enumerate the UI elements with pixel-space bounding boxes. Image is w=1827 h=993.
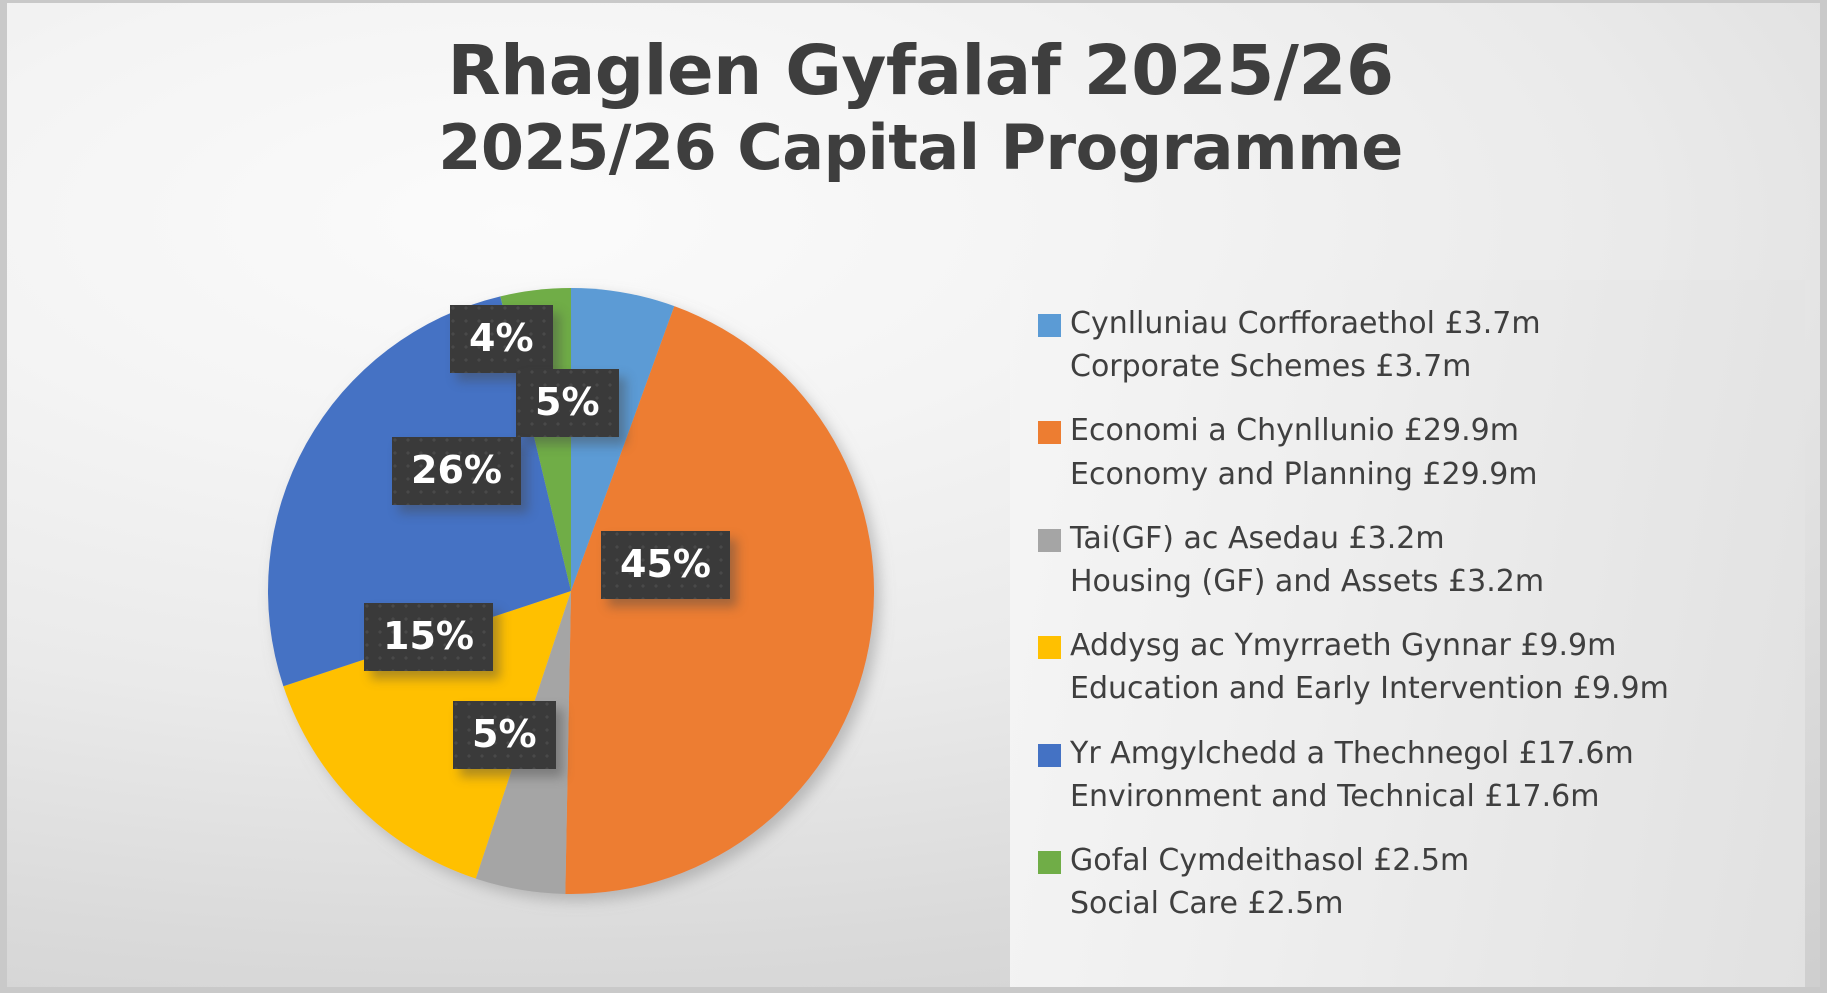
legend-label-english: Environment and Technical £17.6m [1070,775,1634,818]
legend-label-english: Housing (GF) and Assets £3.2m [1070,560,1544,603]
legend-item-label: Addysg ac Ymyrraeth Gynnar £9.9mEducatio… [1070,624,1669,710]
chart-legend: Cynlluniau Corfforaethol £3.7mCorporate … [1010,280,1805,989]
legend-swatch-environment-technical [1038,744,1061,767]
slide-canvas: Rhaglen Gyfalaf 2025/26 2025/26 Capital … [0,0,1827,993]
legend-item[interactable]: Addysg ac Ymyrraeth Gynnar £9.9mEducatio… [1038,624,1793,710]
pie-label-corporate-schemes: 5% [516,369,619,437]
legend-item-label: Yr Amgylchedd a Thechnegol £17.6mEnviron… [1070,732,1634,818]
legend-label-welsh: Addysg ac Ymyrraeth Gynnar £9.9m [1070,624,1669,667]
legend-item[interactable]: Gofal Cymdeithasol £2.5mSocial Care £2.5… [1038,839,1793,925]
legend-label-english: Economy and Planning £29.9m [1070,453,1538,496]
pie-label-environment-technical: 26% [392,437,521,505]
legend-item-label: Gofal Cymdeithasol £2.5mSocial Care £2.5… [1070,839,1469,925]
pie-label-housing-assets: 5% [453,701,556,769]
pie-label-education-early-intervention: 15% [364,603,493,671]
pie-label-economy-planning: 45% [601,531,730,599]
title-english: 2025/26 Capital Programme [7,115,1827,181]
legend-item[interactable]: Economi a Chynllunio £29.9mEconomy and P… [1038,409,1793,495]
legend-label-welsh: Tai(GF) ac Asedau £3.2m [1070,517,1544,560]
legend-label-english: Education and Early Intervention £9.9m [1070,667,1669,710]
legend-label-english: Social Care £2.5m [1070,882,1469,925]
legend-label-welsh: Gofal Cymdeithasol £2.5m [1070,839,1469,882]
legend-item-label: Cynlluniau Corfforaethol £3.7mCorporate … [1070,302,1541,388]
legend-swatch-economy-planning [1038,421,1061,444]
legend-label-english: Corporate Schemes £3.7m [1070,345,1541,388]
title-welsh: Rhaglen Gyfalaf 2025/26 [7,35,1827,109]
legend-label-welsh: Economi a Chynllunio £29.9m [1070,409,1538,452]
legend-swatch-corporate-schemes [1038,314,1061,337]
pie-label-social-care: 4% [450,305,553,373]
legend-swatch-housing-assets [1038,529,1061,552]
legend-item[interactable]: Yr Amgylchedd a Thechnegol £17.6mEnviron… [1038,732,1793,818]
legend-swatch-education-early-intervention [1038,636,1061,659]
legend-label-welsh: Cynlluniau Corfforaethol £3.7m [1070,302,1541,345]
legend-item-label: Tai(GF) ac Asedau £3.2mHousing (GF) and … [1070,517,1544,603]
page-title: Rhaglen Gyfalaf 2025/26 2025/26 Capital … [7,35,1827,181]
legend-swatch-social-care [1038,851,1061,874]
legend-item-label: Economi a Chynllunio £29.9mEconomy and P… [1070,409,1538,495]
legend-item[interactable]: Cynlluniau Corfforaethol £3.7mCorporate … [1038,302,1793,388]
legend-label-welsh: Yr Amgylchedd a Thechnegol £17.6m [1070,732,1634,775]
legend-item[interactable]: Tai(GF) ac Asedau £3.2mHousing (GF) and … [1038,517,1793,603]
